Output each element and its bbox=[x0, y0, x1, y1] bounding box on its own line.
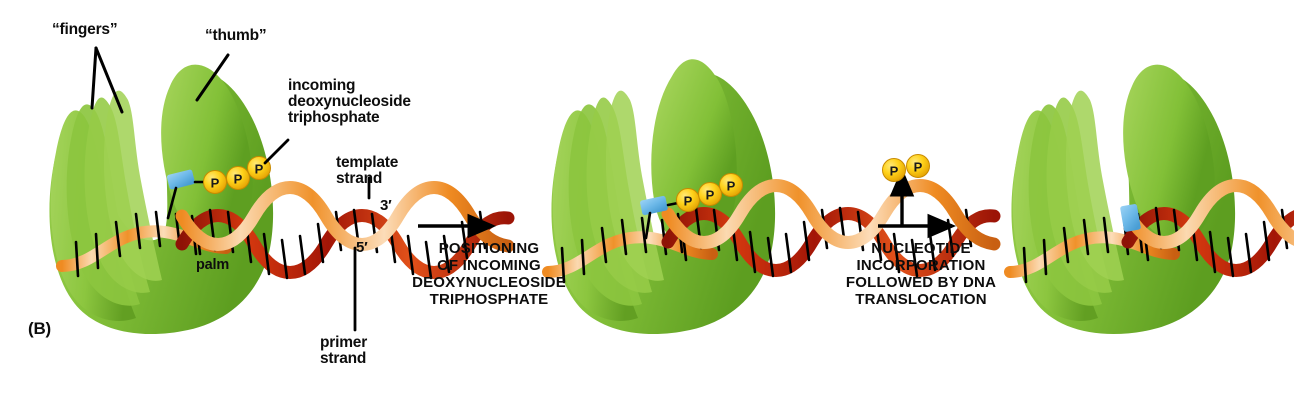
svg-text:P: P bbox=[234, 172, 243, 187]
label-5-prime: 5′ bbox=[356, 240, 368, 255]
panel-label-b: (B) bbox=[28, 320, 51, 338]
label-incoming-dntp: incoming deoxynucleoside triphosphate bbox=[288, 78, 411, 126]
label-template-strand: template strand bbox=[336, 155, 398, 187]
panel-right bbox=[1010, 65, 1294, 334]
svg-text:P: P bbox=[255, 162, 264, 177]
phosphate-circle: P bbox=[907, 155, 930, 178]
leader-fingers-a bbox=[92, 48, 96, 108]
phosphate-circle: P bbox=[227, 167, 250, 190]
phosphate-circle: P bbox=[677, 189, 700, 212]
svg-text:P: P bbox=[684, 194, 693, 209]
phosphate-circle: P bbox=[204, 171, 227, 194]
label-thumb: “thumb” bbox=[205, 28, 266, 44]
svg-text:P: P bbox=[706, 188, 715, 203]
label-primer-strand: primer strand bbox=[320, 335, 367, 367]
phosphate-circle: P bbox=[699, 183, 722, 206]
polymerase-enzyme-right bbox=[1011, 65, 1235, 334]
svg-text:P: P bbox=[211, 176, 220, 191]
svg-text:P: P bbox=[914, 160, 923, 175]
svg-text:P: P bbox=[890, 164, 899, 179]
figure-canvas: P P P bbox=[0, 0, 1294, 400]
phosphate-circle: P bbox=[883, 159, 906, 182]
step-caption-1: POSITIONING OF INCOMING DEOXYNUCLEOSIDE … bbox=[400, 240, 578, 308]
polymerase-enzyme-left bbox=[49, 65, 273, 334]
label-palm: palm bbox=[196, 258, 229, 273]
label-fingers: “fingers” bbox=[52, 22, 117, 38]
label-3-prime: 3′ bbox=[380, 198, 392, 213]
phosphate-circle: P bbox=[720, 174, 743, 197]
leader-incoming-dntp bbox=[265, 140, 288, 163]
released-pyrophosphate: P P bbox=[883, 155, 930, 182]
diagram-artwork: P P P bbox=[0, 0, 1294, 400]
step-caption-2: NUCLEOTIDE INCORPORATION FOLLOWED BY DNA… bbox=[830, 240, 1012, 308]
polymerase-enzyme-middle bbox=[551, 55, 775, 334]
svg-text:P: P bbox=[727, 179, 736, 194]
